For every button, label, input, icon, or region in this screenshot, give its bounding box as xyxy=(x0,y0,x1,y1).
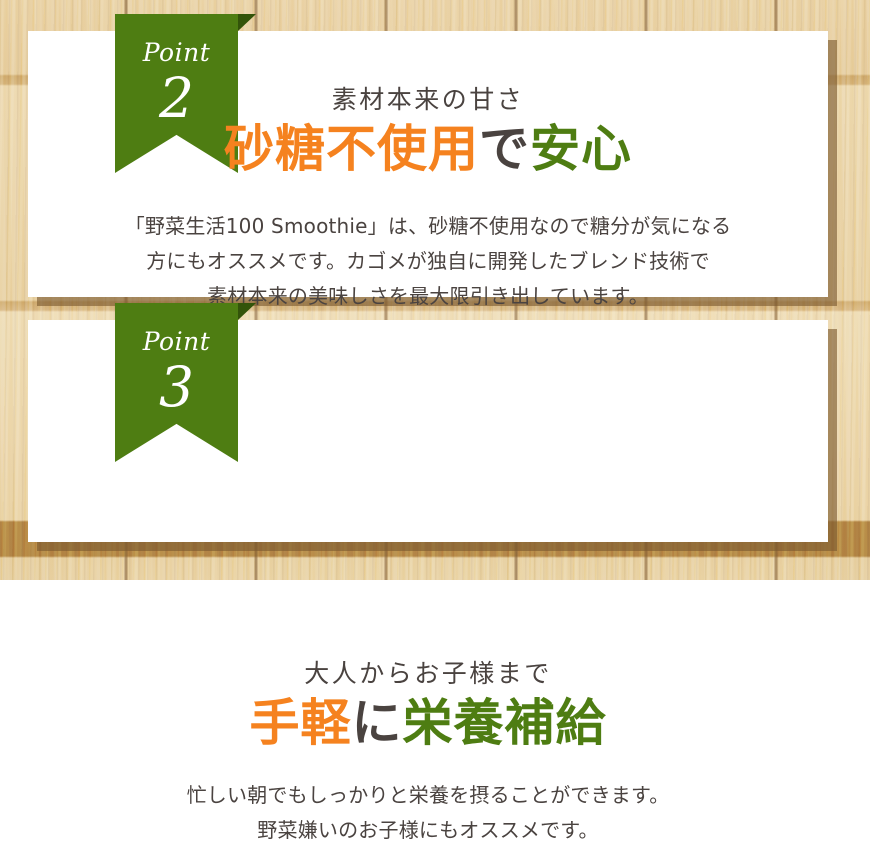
headline-part-orange: 砂糖不使用 xyxy=(224,120,479,178)
ribbon-label: Point xyxy=(115,329,238,354)
headline-part-gray: に xyxy=(352,694,403,752)
headline-part-green: 安心 xyxy=(530,120,632,178)
headline: 砂糖不使用で安心 xyxy=(28,123,828,176)
headline: 手軽に栄養補給 xyxy=(28,697,828,750)
point-body-3: 忙しい朝でもしっかりと栄養を摂ることができます。 野菜嫌いのお子様にもオススメで… xyxy=(28,778,828,848)
headline-part-green: 栄養補給 xyxy=(403,694,607,752)
point-heading-block-3: 大人からお子様まで 手軽に栄養補給 xyxy=(28,661,828,750)
point-card-2: Point 2 素材本来の甘さ 砂糖不使用で安心 「野菜生活100 Smooth… xyxy=(28,31,828,297)
ribbon-label: Point xyxy=(115,40,238,65)
kicker-text: 素材本来の甘さ xyxy=(28,87,828,112)
point-card-3: Point 3 大人からお子様まで 手軽に栄養補給 忙しい朝でもしっかりと栄養を… xyxy=(28,320,828,542)
ribbon-number: 3 xyxy=(115,360,238,415)
body-line: 「野菜生活100 Smoothie」は、砂糖不使用なので糖分が気になる xyxy=(28,209,828,244)
body-line: 方にもオススメです。カゴメが独自に開発したブレンド技術で xyxy=(28,244,828,279)
kicker-text: 大人からお子様まで xyxy=(28,661,828,686)
body-line: 忙しい朝でもしっかりと栄養を摂ることができます。 xyxy=(28,778,828,813)
point-body-2: 「野菜生活100 Smoothie」は、砂糖不使用なので糖分が気になる 方にもオ… xyxy=(28,209,828,314)
headline-part-orange: 手軽 xyxy=(250,694,352,752)
point-heading-block-2: 素材本来の甘さ 砂糖不使用で安心 xyxy=(28,87,828,176)
body-line: 野菜嫌いのお子様にもオススメです。 xyxy=(28,813,828,848)
headline-part-gray: で xyxy=(479,120,530,178)
point-ribbon-3: Point 3 xyxy=(115,303,238,462)
